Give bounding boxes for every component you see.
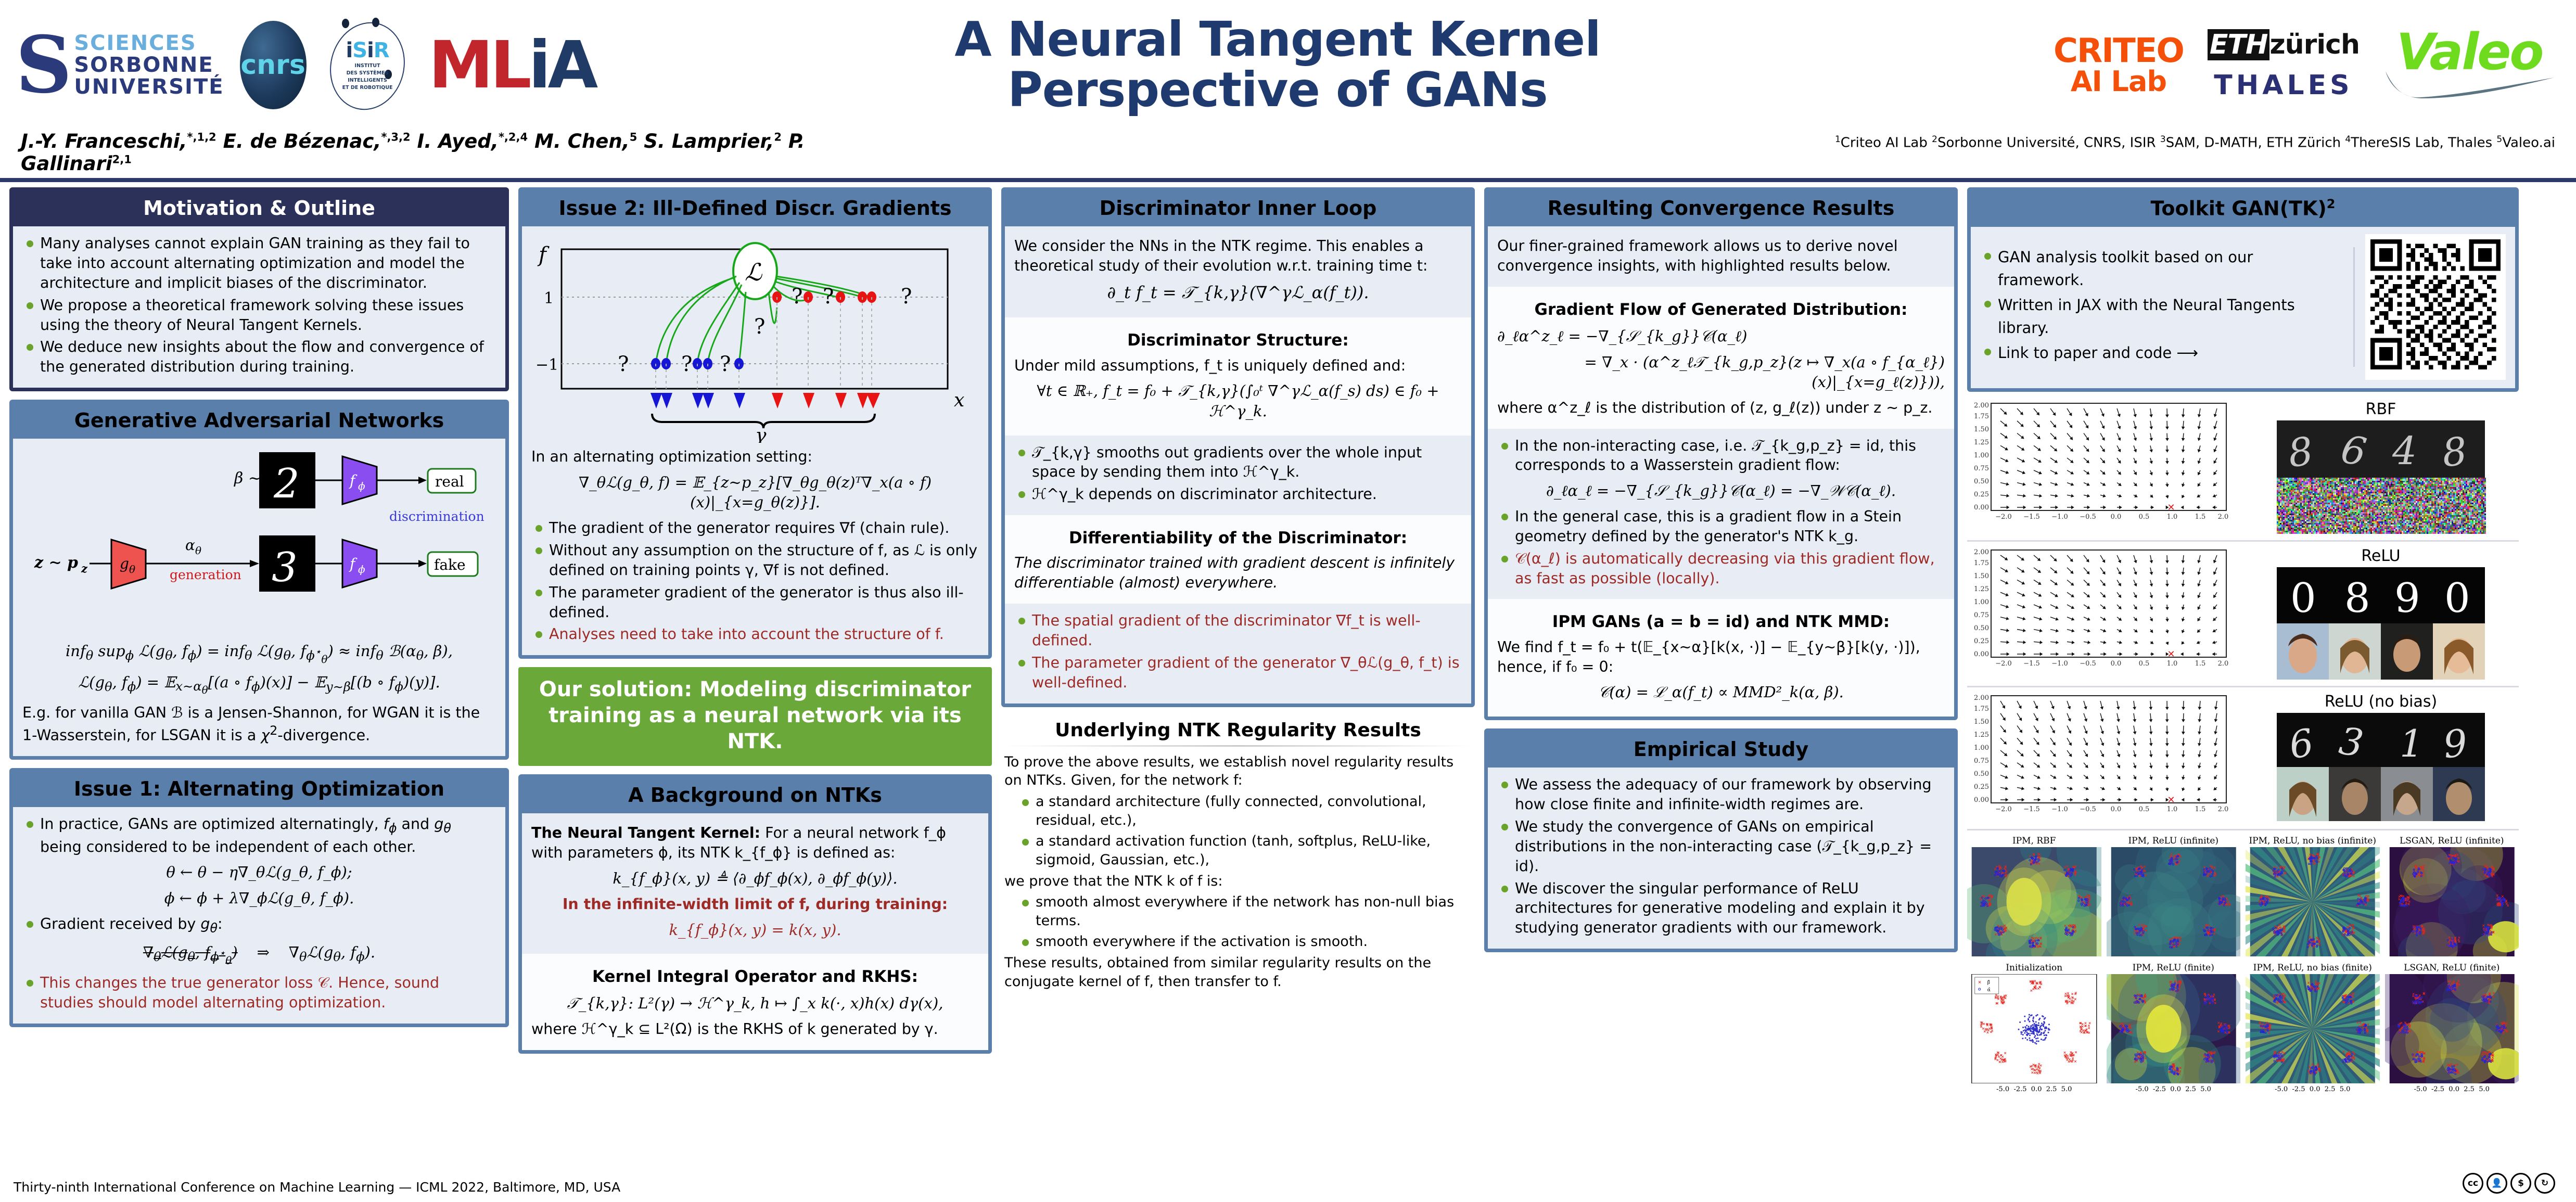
ntk-equation-2: k_{f_ϕ}(x, y) = k(x, y). [531, 920, 979, 940]
figure-divider-3 [1967, 829, 2519, 830]
density-plot-lsgan-relu-infinite: ××××××××××××××××××××××××××××××××××××××××… [2385, 847, 2519, 956]
kernel-operator-subhead: Kernel Integral Operator and RKHS: [531, 966, 979, 988]
toolkit-divider [2353, 247, 2355, 367]
convergence-block: Resulting Convergence Results Our finer-… [1484, 187, 1958, 720]
density-cell: IPM, ReLU, no bias (finite) ××××××××××××… [2246, 963, 2380, 1093]
solution-banner: Our solution: Modeling discriminator tra… [518, 667, 992, 766]
density-plot-grid: IPM, RBF ×××××××××××××××××××××××××××××××… [1967, 836, 2519, 1093]
density-title: IPM, RBF [1967, 836, 2101, 846]
ntk-infinite-width-line: In the infinite-width limit of f, during… [531, 894, 979, 914]
svg-text:1.50: 1.50 [1974, 426, 1989, 433]
sorbonne-line-3: UNIVERSITÉ [74, 76, 224, 98]
fake-label: fake [434, 556, 466, 573]
thales-logo: THALES [2214, 70, 2353, 101]
column-1: Motivation & Outline Many analyses canno… [9, 187, 509, 1027]
list-item: Without any assumption on the structure … [531, 541, 979, 580]
list-item: Gradient received by gθ: [22, 914, 496, 937]
density-title: IPM, ReLU (finite) [2107, 963, 2241, 973]
svg-text:3: 3 [272, 544, 298, 591]
list-item: 𝒯_{k,γ} smooths out gradients over the w… [1014, 443, 1462, 482]
list-item: The gradient of the generator requires ∇… [531, 518, 979, 538]
issue2-equation: ∇_θℒ(g_θ, f) = 𝔼_{z∼p_z}[∇_θg_θ(z)ᵀ∇_x(a… [531, 472, 979, 513]
density-xticks: -5.0 -2.5 0.0 2.5 5.0 [2385, 1085, 2519, 1093]
convergence-where-note: where α^z_ℓ is the distribution of (z, g… [1497, 398, 1945, 418]
mnist-clean-digits: 08 90 [2243, 567, 2519, 623]
issue1-equation-3: ∇θℒ(gθ, fϕ⋆θ) ⇒ ∇θℒ(gθ, fϕ). [22, 942, 496, 967]
ntk-background-block: A Background on NTKs The Neural Tangent … [518, 774, 992, 1053]
gan-architecture-diagram: β ∼ 2 f ϕ real discrimination [22, 448, 496, 635]
loss-node-label: ℒ [745, 258, 762, 286]
list-item: This changes the true generator loss 𝒞. … [22, 973, 496, 1013]
affiliation-list: 1Criteo AI Lab 2Sorbonne Université, CNR… [864, 130, 2555, 151]
mnist-noisy-digits: 6 3 1 9 [2243, 713, 2519, 767]
svg-text:1.75: 1.75 [1974, 413, 1989, 420]
latent-label: z ∼ p [34, 554, 78, 572]
list-item: smooth almost everywhere if the network … [1004, 893, 1472, 930]
issue1-block: Issue 1: Alternating Optimization In pra… [9, 768, 509, 1027]
isir-logo-text: iSiR [346, 39, 389, 62]
density-xticks: -5.0 -2.5 0.0 2.5 5.0 [1967, 1085, 2101, 1093]
svg-text:1.0: 1.0 [2167, 513, 2178, 521]
list-item: We assess the adequacy of our framework … [1497, 775, 1945, 814]
list-item: The parameter gradient of the generator … [531, 583, 979, 622]
density-plot-ipm-relu-finite: ××××××××××××××××××××××××××××××××××××××××… [2107, 974, 2241, 1083]
inner-loop-equation-2: ∀t ∈ ℝ₊, f_t = f₀ + 𝒯_{k,γ}(∫₀ᵗ ∇^γℒ_α(f… [1014, 381, 1462, 421]
figure-row-relu: −2.0−1.5−1.0 −0.50.00.5 1.01.52.0 0.000.… [1967, 547, 2519, 680]
svg-text:0.75: 0.75 [1974, 465, 1989, 472]
figure-title-relu: ReLU [2243, 547, 2519, 565]
gradient-flow-subhead: Gradient Flow of Generated Distribution: [1497, 299, 1945, 321]
celeba-noisy-faces [2243, 767, 2519, 821]
ipm-gans-subhead: IPM GANs (a = b = id) and NTK MMD: [1497, 611, 1945, 633]
empirical-study-block: Empirical Study We assess the adequacy o… [1484, 728, 1958, 952]
svg-text:1.5: 1.5 [2195, 513, 2206, 521]
poster-title-line-2: Perspective of GANs [770, 65, 1785, 116]
qr-code-paper-and-code[interactable] [2365, 234, 2506, 380]
differentiability-statement: The discriminator trained with gradient … [1014, 553, 1462, 593]
density-cell: Initialization ×××××××××××××××××××××××××… [1967, 963, 2101, 1093]
left-logo-group: S SCIENCES SORBONNE UNIVERSITÉ cnrs iSiR… [0, 20, 770, 111]
issue1-equation-2: ϕ ← ϕ + λ∇_ϕℒ(g_θ, f_ϕ). [22, 888, 496, 909]
beta-label: β ∼ [234, 469, 261, 488]
convergence-title: Resulting Convergence Results [1488, 191, 1954, 226]
list-item: ℋ^γ_k depends on discriminator architect… [1014, 484, 1462, 504]
mlia-logo: MLiA [429, 33, 595, 98]
list-item[interactable]: Link to paper and code ⟶ [1980, 342, 2343, 365]
authors-row: J.-Y. Franceschi,*,1,2 E. de Bézenac,*,3… [0, 130, 2576, 178]
ntk-rkhs-note: where ℋ^γ_k ⊆ L²(Ω) is the RKHS of k gen… [531, 1019, 979, 1039]
header-divider [0, 178, 2576, 182]
figure-row-rbf: −2.0−1.5−1.0 −0.50.00.5 1.01.52.0 0.000.… [1967, 400, 2519, 534]
gan-block: Generative Adversarial Networks β ∼ 2 f … [9, 400, 509, 760]
author-list: J.-Y. Franceschi,*,1,2 E. de Bézenac,*,3… [21, 130, 864, 175]
density-title: IPM, ReLU (infinite) [2107, 836, 2241, 846]
svg-text:?: ? [792, 285, 802, 309]
inner-loop-equation-1: ∂_t f_t = 𝒯_{k,γ}(∇^γℒ_α(f_t)). [1014, 282, 1462, 304]
figure-row-relu-no-bias: −2.0−1.5−1.0 −0.50.00.5 1.01.52.0 0.000.… [1967, 693, 2519, 823]
density-xticks: -5.0 -2.5 0.0 2.5 5.0 [2107, 1085, 2241, 1093]
struck-gradient: ∇θℒ(gθ, fϕ⋆θ) [143, 943, 238, 961]
inner-loop-lead: We consider the NNs in the NTK regime. T… [1014, 236, 1462, 276]
quiver-plot-relu: −2.0−1.5−1.0 −0.50.00.5 1.01.52.0 0.000.… [1967, 547, 2238, 677]
svg-text:z: z [81, 562, 88, 575]
poster-title: A Neural Tangent Kernel Perspective of G… [770, 15, 1785, 115]
criteo-ai-lab-logo: CRITEO AI Lab [2054, 34, 2184, 96]
ntk-equation-1: k_{f_ϕ}(x, y) ≜ ⟨∂_ϕf_ϕ(x), ∂_ϕf_ϕ(y)⟩. [531, 868, 979, 889]
issue1-equation-1: θ ← θ − η∇_θℒ(g_θ, f_ϕ); [22, 862, 496, 883]
poster-title-line-1: A Neural Tangent Kernel [770, 15, 1785, 65]
svg-text:?: ? [618, 352, 629, 376]
cc-nc-icon: $ [2510, 1173, 2531, 1194]
svg-text:2.00: 2.00 [1974, 402, 1989, 410]
column-5: Toolkit GAN(TK)2 GAN analysis toolkit ba… [1967, 187, 2519, 1093]
replacement-gradient: ∇θℒ(gθ, fϕ). [289, 943, 375, 961]
discriminator-structure-subhead: Discriminator Structure: [1014, 330, 1462, 351]
motivation-block: Motivation & Outline Many analyses canno… [9, 187, 509, 391]
mnist-blurry-digits: 8 6 4 8 [2243, 420, 2519, 478]
cc-by-icon: 👤 [2486, 1173, 2507, 1194]
svg-text:0.00: 0.00 [1974, 504, 1989, 512]
density-plot-ipm-relu-nobias-infinite: ××××××××××××××××××××××××××××××××××××××××… [2246, 847, 2380, 956]
regularity-title: Underlying NTK Regularity Results [1004, 720, 1472, 741]
density-title: Initialization [1967, 963, 2101, 973]
list-item: In the general case, this is a gradient … [1497, 507, 1945, 546]
list-item: 𝒞(α_ℓ) is automatically decreasing via t… [1497, 549, 1945, 589]
ntk-definition-lead: The Neural Tangent Kernel: For a neural … [531, 823, 979, 863]
density-title: IPM, ReLU, no bias (infinite) [2246, 836, 2380, 846]
empirical-study-title: Empirical Study [1488, 732, 1954, 768]
density-title: IPM, ReLU, no bias (finite) [2246, 963, 2380, 973]
svg-text:−2.0: −2.0 [1995, 513, 2012, 521]
svg-text:ϕ: ϕ [358, 563, 365, 576]
list-item: Many analyses cannot explain GAN trainin… [22, 234, 496, 293]
target-marker-relu: ✕ [2167, 649, 2175, 660]
list-item: In the non-interacting case, i.e. 𝒯_{k_g… [1497, 436, 1945, 476]
ntk-lead-bold: The Neural Tangent Kernel: [531, 824, 760, 841]
convergence-equation-2: ∂_ℓα_ℓ = −∇_{𝒮_{k_g}}𝒞(α_ℓ) = −∇_𝒲𝒞(α_ℓ)… [1497, 481, 1945, 501]
svg-text:?: ? [720, 352, 731, 376]
conference-footer: Thirty-ninth International Conference on… [14, 1180, 620, 1195]
column-3: Discriminator Inner Loop We consider the… [1001, 187, 1475, 998]
inner-loop-block: Discriminator Inner Loop We consider the… [1001, 187, 1475, 707]
ipm-gans-tail: We find f_t = f₀ + t(𝔼_{x∼α}[k(x, ·)] − … [1497, 637, 1945, 677]
valeo-logo: Valeo [2383, 30, 2555, 100]
svg-text:θ: θ [195, 544, 201, 557]
density-plot-ipm-rbf: ××××××××××××××××××××××××××××××××××××××××… [1967, 847, 2101, 956]
issue2-block: Issue 2: Ill-Defined Discr. Gradients f … [518, 187, 992, 659]
ntk-background-title: A Background on NTKs [522, 778, 988, 813]
sorbonne-line-2: SORBONNE [74, 54, 224, 76]
cnrs-logo: cnrs [240, 21, 307, 109]
svg-text:2.0: 2.0 [2218, 513, 2229, 521]
list-item: We study the convergence of GANs on empi… [1497, 817, 1945, 876]
toolkit-title: Toolkit GAN(TK)2 [1971, 191, 2515, 227]
valeo-logo-text: Valeo [2383, 30, 2555, 74]
list-item: a standard activation function (tanh, so… [1004, 832, 1472, 869]
quiver-plot-rbf: −2.0−1.5−1.0 −0.50.00.5 1.01.52.0 0.000.… [1967, 400, 2238, 530]
isir-logo: iSiR INSTITUT DES SYSTÈMES INTELLIGENTS … [322, 20, 413, 111]
figure-divider-2 [1967, 686, 2519, 687]
density-plot-initialization: ××××××××××××××××××××××××××××××××××××××××… [1967, 974, 2101, 1083]
generation-label: generation [170, 567, 241, 582]
cc-sa-icon: ↻ [2534, 1173, 2555, 1194]
plot-y-label: f [537, 243, 550, 267]
list-item: Written in JAX with the Neural Tangents … [1980, 294, 2343, 339]
svg-text:θ: θ [129, 563, 135, 576]
svg-text:0.25: 0.25 [1974, 491, 1989, 498]
gamma-label: γ [755, 425, 767, 443]
gan-equation-2: ℒ(gθ, fϕ) = 𝔼x∼αθ[(a ∘ fϕ)(x)] − 𝔼y∼β[(b… [22, 672, 496, 697]
density-xticks: -5.0 -2.5 0.0 2.5 5.0 [2246, 1085, 2380, 1093]
alpha-label: α [185, 536, 195, 554]
criteo-logo-text: CRITEO [2054, 34, 2184, 68]
target-marker-relu-no-bias: ✕ [2167, 795, 2175, 805]
regularity-lead: To prove the above results, we establish… [1004, 753, 1472, 790]
gan-title: Generative Adversarial Networks [13, 403, 505, 439]
cc-icon: cc [2463, 1173, 2483, 1194]
regularity-tail: These results, obtained from similar reg… [1004, 954, 1472, 991]
sorbonne-line-1: SCIENCES [74, 32, 224, 54]
svg-text:?: ? [681, 352, 692, 376]
figure-title-rbf: RBF [2243, 400, 2519, 418]
motivation-title: Motivation & Outline [13, 191, 505, 226]
poster-header: S SCIENCES SORBONNE UNIVERSITÉ cnrs iSiR… [0, 0, 2576, 130]
column-2: Issue 2: Ill-Defined Discr. Gradients f … [518, 187, 992, 1054]
svg-text:0.0: 0.0 [2111, 513, 2122, 521]
cnrs-logo-text: cnrs [240, 49, 305, 81]
ill-defined-gradients-plot: f 1 −1 x ℒ [531, 235, 979, 443]
real-label: real [435, 473, 464, 490]
svg-text:1.25: 1.25 [1974, 439, 1989, 446]
list-item: We deduce new insights about the flow an… [22, 337, 496, 377]
svg-text:?: ? [823, 285, 834, 309]
svg-text:0.50: 0.50 [1974, 478, 1989, 485]
svg-text:0.5: 0.5 [2139, 513, 2150, 521]
density-title: LSGAN, ReLU (finite) [2385, 963, 2519, 973]
column-4: Resulting Convergence Results Our finer-… [1484, 187, 1958, 952]
valeo-swoosh-icon [2383, 70, 2555, 98]
gan-equation-1: infθ supϕ ℒ(gθ, fϕ) = infθ ℒ(gθ, fϕ⋆θ) ≈… [22, 641, 496, 666]
figure-title-relu-no-bias: ReLU (no bias) [2243, 693, 2519, 711]
svg-text:?: ? [901, 285, 912, 309]
criteo-ai-lab-text: AI Lab [2054, 68, 2184, 96]
plot-x-label: x [954, 390, 964, 411]
sorbonne-s-mark: S [16, 34, 69, 96]
celeba-faces [2243, 623, 2519, 680]
ytick-minus-1: −1 [535, 356, 558, 374]
list-item: The spatial gradient of the discriminato… [1014, 611, 1462, 650]
list-item: smooth everywhere if the activation is s… [1004, 932, 1472, 951]
list-item: Analyses need to take into account the s… [531, 624, 979, 644]
svg-text:−1.0: −1.0 [2051, 513, 2068, 521]
toolkit-block: Toolkit GAN(TK)2 GAN analysis toolkit ba… [1967, 187, 2519, 392]
issue1-title: Issue 1: Alternating Optimization [13, 772, 505, 807]
svg-text:?: ? [754, 315, 765, 339]
convergence-lead: Our finer-grained framework allows us to… [1497, 236, 1945, 276]
creative-commons-badges: cc 👤 $ ↻ [2463, 1173, 2555, 1194]
axis-markers [651, 393, 880, 408]
svg-text:−0.5: −0.5 [2080, 513, 2096, 521]
differentiability-subhead: Differentiability of the Discriminator: [1014, 528, 1462, 549]
inner-loop-title: Discriminator Inner Loop [1005, 191, 1471, 226]
list-item: a standard architecture (fully connected… [1004, 792, 1472, 829]
regularity-mid: we prove that the NTK k of f is: [1004, 872, 1472, 891]
isir-dot-right [372, 18, 379, 27]
density-cell: IPM, ReLU (finite) ×××××××××××××××××××××… [2107, 963, 2241, 1093]
cifar-noise [2243, 478, 2519, 534]
density-plot-ipm-relu-infinite: ××××××××××××××××××××××××××××××××××××××××… [2107, 847, 2241, 956]
issue2-title: Issue 2: Ill-Defined Discr. Gradients [522, 191, 988, 226]
quiver-plot-relu-no-bias: −2.0−1.5−1.0 −0.50.00.5 1.01.52.0 0.000.… [1967, 693, 2238, 823]
right-logo-group: CRITEO AI Lab ETHzürich THALES Valeo [1785, 29, 2576, 101]
density-plot-lsgan-relu-finite: ××××××××××××××××××××××××××××××××××××××××… [2385, 974, 2519, 1083]
list-item: In practice, GANs are optimized alternat… [22, 814, 496, 856]
gan-note: E.g. for vanilla GAN ℬ is a Jensen-Shann… [22, 703, 496, 745]
convergence-equation-3: 𝒞(α) = ℒ_α(f_t) ∝ MMD²_k(α, β). [1497, 682, 1945, 702]
isir-subtitle: INSTITUT DES SYSTÈMES INTELLIGENTS ET DE… [342, 62, 393, 91]
figures-panel: −2.0−1.5−1.0 −0.50.00.5 1.01.52.0 0.000.… [1967, 400, 2519, 1093]
convergence-equation-1b: = ∇_x · (α^z_ℓ𝒯_{k_g,p_z}(z ↦ ∇_x(a ∘ f_… [1497, 352, 1945, 392]
eth-zurich-logo: ETHzürich [2208, 29, 2360, 60]
density-cell: IPM, RBF ×××××××××××××××××××××××××××××××… [1967, 836, 2101, 958]
density-cell: IPM, ReLU (infinite) ×××××××××××××××××××… [2107, 836, 2241, 958]
list-item: The parameter gradient of the generator … [1014, 653, 1462, 693]
ntk-equation-3: 𝒯_{k,γ}: L²(γ) → ℋ^γ_k, h ↦ ∫_x k(·, x)h… [531, 993, 979, 1014]
convergence-equation-1a: ∂_ℓα^z_ℓ = −∇_{𝒮_{k_g}}𝒞(α_ℓ) [1497, 326, 1945, 347]
svg-text:1.00: 1.00 [1974, 452, 1989, 459]
figure-divider-1 [1967, 540, 2519, 542]
sorbonne-universite-logo: S SCIENCES SORBONNE UNIVERSITÉ [16, 32, 224, 98]
density-cell: LSGAN, ReLU (infinite) ×××××××××××××××××… [2385, 836, 2519, 958]
discrimination-label: discrimination [389, 509, 484, 524]
density-title: LSGAN, ReLU (infinite) [2385, 836, 2519, 846]
density-cell: LSGAN, ReLU (finite) ×××××××××××××××××××… [2385, 963, 2519, 1093]
list-item: We propose a theoretical framework solvi… [22, 296, 496, 335]
issue2-lead: In an alternating optimization setting: [531, 447, 979, 467]
regularity-section: Underlying NTK Regularity Results To pro… [1001, 715, 1475, 998]
list-item: We discover the singular performance of … [1497, 879, 1945, 938]
isir-dot-left [342, 19, 349, 28]
regularity-divider [1004, 745, 1472, 747]
ytick-1: 1 [544, 289, 554, 308]
list-item: GAN analysis toolkit based on our framew… [1980, 246, 2343, 291]
poster-root: S SCIENCES SORBONNE UNIVERSITÉ cnrs iSiR… [0, 0, 2576, 1202]
discriminator-structure-lead: Under mild assumptions, f_t is uniquely … [1014, 356, 1462, 376]
svg-text:2: 2 [273, 461, 300, 507]
density-plot-ipm-relu-nobias-finite: ××××××××××××××××××××××××××××××××××××××××… [2246, 974, 2380, 1083]
svg-text:−1.5: −1.5 [2023, 513, 2040, 521]
svg-text:ϕ: ϕ [358, 480, 365, 492]
density-cell: IPM, ReLU, no bias (infinite) ××××××××××… [2246, 836, 2380, 958]
target-marker-rbf: ✕ [2167, 502, 2175, 513]
generator-label: g [120, 555, 129, 572]
